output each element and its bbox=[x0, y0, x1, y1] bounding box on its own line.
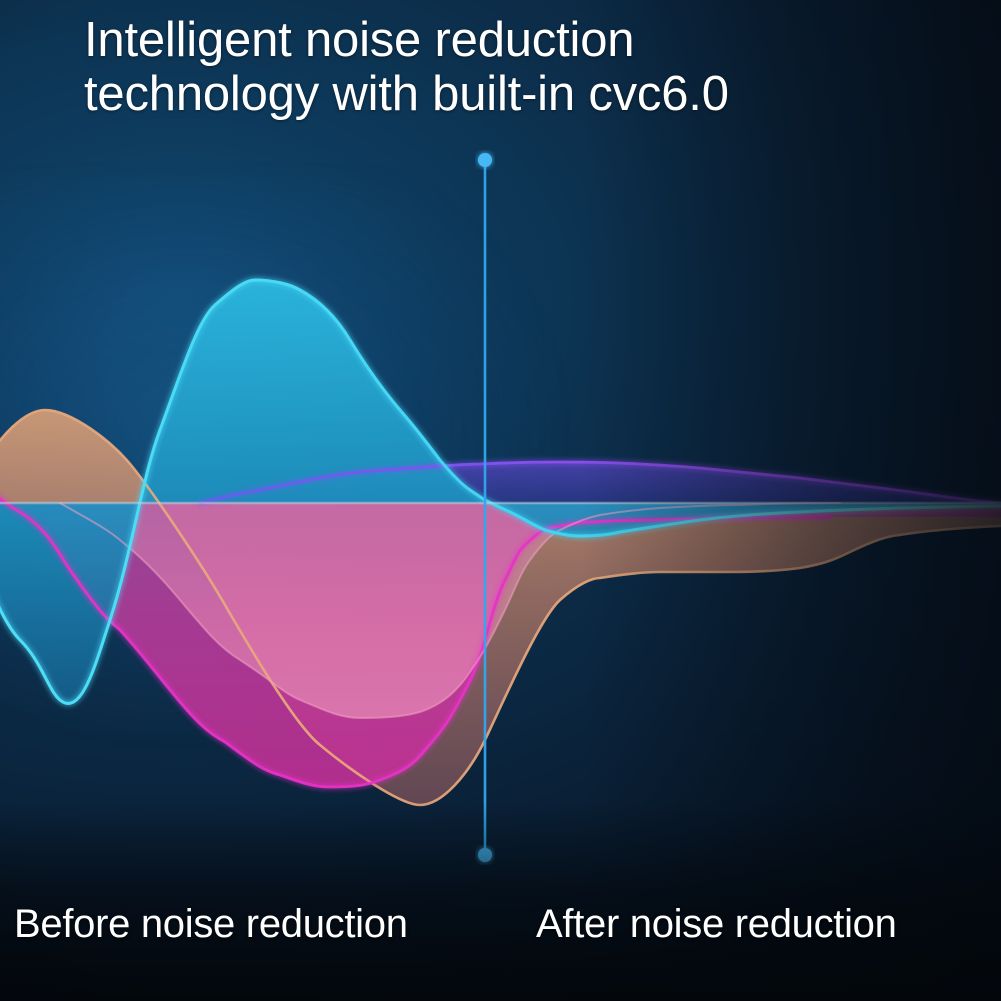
divider-top-dot bbox=[478, 153, 492, 167]
page-title-line-1: Intelligent noise reduction bbox=[84, 14, 984, 68]
infographic-root: Intelligent noise reduction technology w… bbox=[0, 0, 1001, 1001]
page-title-line-2: technology with built-in cvc6.0 bbox=[84, 68, 984, 122]
bottom-fade-overlay bbox=[0, 801, 1001, 1001]
page-title: Intelligent noise reduction technology w… bbox=[84, 14, 984, 122]
caption-before-noise-reduction: Before noise reduction bbox=[14, 902, 408, 947]
caption-after-noise-reduction: After noise reduction bbox=[536, 902, 897, 947]
